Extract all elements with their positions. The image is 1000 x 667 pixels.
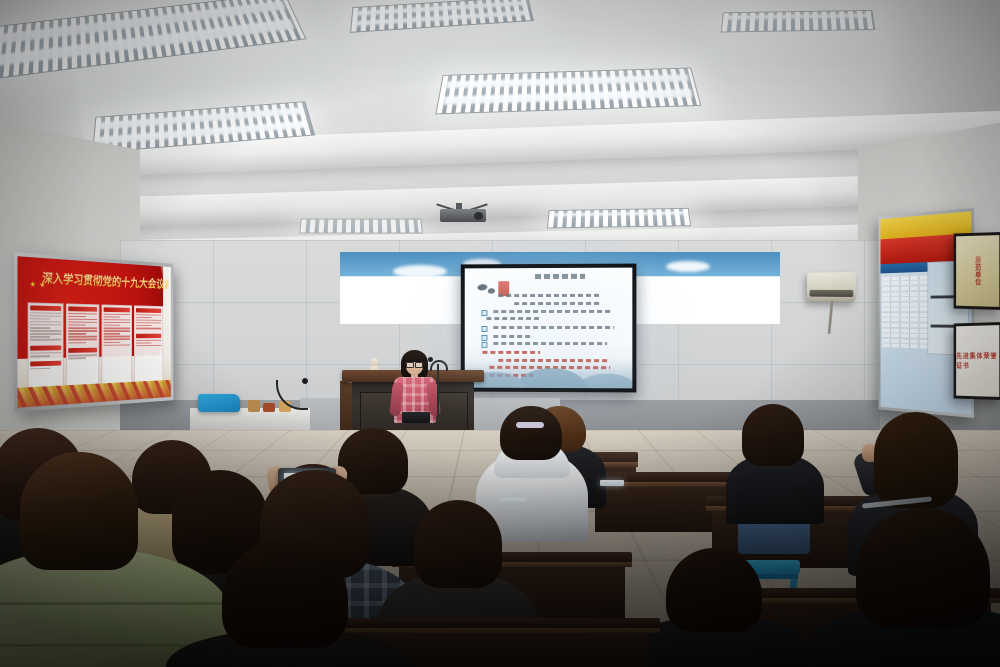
board-column	[134, 305, 163, 383]
board-column	[28, 302, 63, 389]
attendee-right-4	[640, 548, 790, 667]
ceiling	[0, 0, 1000, 250]
recessed-grille-light-icon	[299, 219, 423, 234]
board-column	[66, 303, 99, 387]
air-conditioner-icon	[807, 272, 856, 302]
eyeglasses-icon	[406, 362, 423, 366]
propaganda-board-left: ★ ★ 深入学习贯彻党的十九大会议精神	[14, 252, 173, 412]
certificate-plaque-2: 先进集体荣誉证书	[954, 322, 1000, 400]
recessed-grille-light-icon	[547, 208, 691, 229]
slide-content	[465, 268, 633, 389]
presenter-laptop	[402, 412, 430, 423]
paper-sheet	[600, 480, 624, 486]
certificate-text: 示范单位	[973, 256, 982, 286]
board-column	[101, 304, 132, 385]
certificate-plaque-1: 示范单位	[954, 232, 1000, 310]
blue-bag	[198, 394, 240, 412]
recessed-grille-light-icon	[350, 0, 534, 33]
lecture-room-photo: ★ ★ 深入学习贯彻党的十九大会议精神	[0, 0, 1000, 667]
recessed-grille-light-icon	[435, 68, 701, 115]
slide-title-line	[535, 274, 585, 279]
certificate-text: 先进集体荣誉证书	[956, 351, 999, 371]
attendee-left-2	[0, 452, 182, 667]
attendee-right-3	[820, 508, 1000, 667]
attendee-center-4	[186, 538, 396, 667]
gooseneck-microphone-icon	[276, 380, 312, 416]
projection-screen	[461, 264, 637, 393]
slide-watermark	[465, 359, 633, 388]
ceiling-soffit-2	[0, 171, 1000, 232]
attendee-right-1	[730, 404, 820, 554]
microphone-stand-icon	[428, 356, 448, 416]
recessed-grille-light-icon	[721, 10, 876, 33]
projector-icon	[434, 203, 492, 223]
